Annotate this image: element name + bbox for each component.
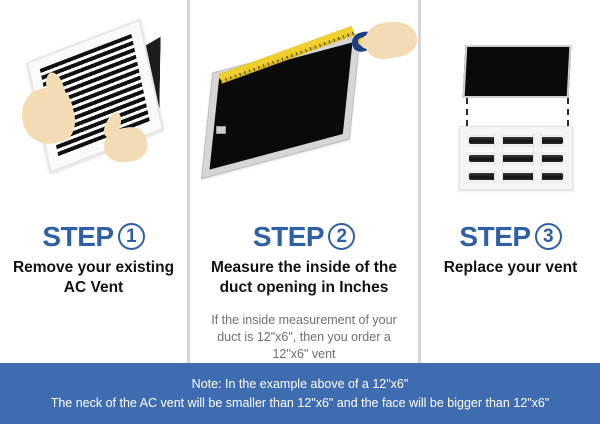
step-2-number-badge: 2 — [328, 223, 355, 250]
vent-divider-bar — [533, 169, 542, 184]
step-2-word: STEP — [253, 220, 324, 254]
duct-opening-top — [463, 45, 572, 98]
step-2-illustration — [190, 0, 418, 210]
step-column-3: STEP3 Replace your vent — [421, 0, 600, 363]
vent-divider-bar — [533, 133, 542, 148]
step-2-subtext: If the inside measurement of your duct i… — [190, 312, 418, 363]
step-1-heading: STEP1 — [0, 218, 187, 254]
vent-divider-bar — [494, 151, 503, 166]
step-1-number-badge: 1 — [118, 223, 145, 250]
note-line-1: Note: In the example above of a 12"x6" — [192, 375, 409, 394]
duct-above-vent-icon — [421, 0, 600, 210]
step-3-number-badge: 3 — [535, 223, 562, 250]
vent-louver-row — [467, 133, 565, 147]
step-2-caption: Measure the inside of the duct opening i… — [190, 258, 418, 298]
step-3-illustration — [421, 0, 600, 210]
tape-measure-on-duct-icon — [190, 0, 424, 210]
vent-sizing-infographic: STEP1 Remove your existing AC Vent — [0, 0, 600, 424]
alignment-dashed-line-right — [567, 98, 569, 126]
vent-divider-bar — [494, 133, 503, 148]
replacement-vent-grille — [459, 126, 573, 190]
vent-louver-row — [467, 151, 565, 165]
vent-louver-row — [467, 169, 565, 183]
note-banner: Note: In the example above of a 12"x6" T… — [0, 363, 600, 424]
vent-divider-bar — [533, 151, 542, 166]
alignment-dashed-line-left — [466, 98, 468, 126]
measuring-hand-icon — [363, 19, 419, 61]
step-1-word: STEP — [42, 220, 113, 254]
vent-divider-bar — [494, 169, 503, 184]
step-2-heading: STEP2 — [190, 218, 418, 254]
hands-removing-vent-icon — [0, 0, 187, 210]
step-1-illustration — [0, 0, 187, 210]
step-3-word: STEP — [459, 220, 530, 254]
steps-row: STEP1 Remove your existing AC Vent — [0, 0, 600, 363]
step-column-1: STEP1 Remove your existing AC Vent — [0, 0, 187, 363]
step-3-heading: STEP3 — [421, 218, 600, 254]
step-1-caption: Remove your existing AC Vent — [0, 258, 187, 298]
vent-slat — [469, 137, 563, 144]
step-column-2: STEP2 Measure the inside of the duct ope… — [187, 0, 421, 363]
note-line-2: The neck of the AC vent will be smaller … — [51, 394, 550, 413]
vent-slat — [469, 155, 563, 162]
vent-slat — [469, 173, 563, 180]
tape-measure-hook-icon — [216, 126, 226, 134]
step-3-caption: Replace your vent — [421, 258, 600, 278]
